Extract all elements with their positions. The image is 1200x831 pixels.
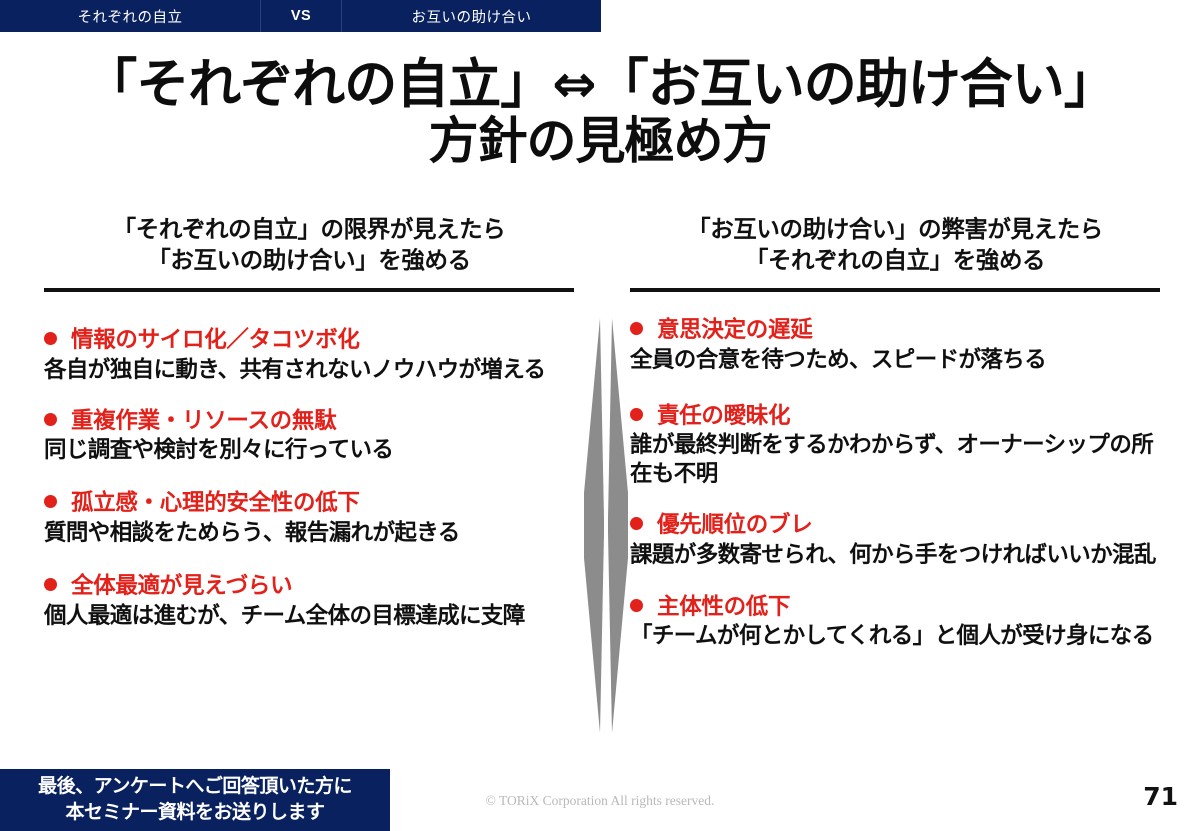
tab-vs-separator: VS bbox=[260, 0, 342, 32]
list-item-title-row: 情報のサイロ化／タコツボ化 bbox=[44, 326, 574, 355]
list-item: 全体最適が見えづらい 個人最適は進むが、チーム全体の目標達成に支障 bbox=[44, 572, 574, 631]
vertical-double-arrow-icon bbox=[578, 318, 634, 733]
tab-independence[interactable]: それぞれの自立 bbox=[0, 0, 260, 32]
list-item: 重複作業・リソースの無駄 同じ調査や検討を別々に行っている bbox=[44, 407, 574, 466]
list-item-title: 意思決定の遅延 bbox=[657, 316, 812, 345]
list-item-title: 孤立感・心理的安全性の低下 bbox=[71, 489, 360, 518]
list-item-title-row: 孤立感・心理的安全性の低下 bbox=[44, 489, 574, 518]
copyright-notice: © TORiX Corporation All rights reserved. bbox=[0, 793, 1200, 809]
list-item: 意思決定の遅延 全員の合意を待つため、スピードが落ちる bbox=[630, 316, 1160, 375]
right-column-divider bbox=[630, 288, 1160, 292]
slide-title-line-2: 方針の見極め方 bbox=[0, 114, 1200, 169]
page-number: 71 bbox=[1143, 782, 1178, 811]
tab-mutual-help-label: お互いの助け合い bbox=[412, 6, 532, 27]
bullet-dot-icon bbox=[44, 413, 57, 426]
left-column-divider bbox=[44, 288, 574, 292]
right-column-items: 意思決定の遅延 全員の合意を待つため、スピードが落ちる 責任の曖昧化 誰が最終判… bbox=[630, 316, 1160, 651]
right-column: 「お互いの助け合い」の弊害が見えたら 「それぞれの自立」を強める 意思決定の遅延… bbox=[630, 214, 1160, 668]
top-tab-bar: それぞれの自立 VS お互いの助け合い bbox=[0, 0, 601, 32]
list-item: 情報のサイロ化／タコツボ化 各自が独自に動き、共有されないノウハウが増える bbox=[44, 326, 574, 385]
list-item-title: 主体性の低下 bbox=[657, 593, 790, 622]
tab-mutual-help[interactable]: お互いの助け合い bbox=[342, 0, 601, 32]
tab-vs-label: VS bbox=[291, 8, 311, 24]
slide-title: 「それぞれの自立」⇔「お互いの助け合い」 方針の見極め方 bbox=[0, 56, 1200, 168]
list-item-body: 各自が独自に動き、共有されないノウハウが増える bbox=[44, 356, 574, 385]
list-item-title: 優先順位のブレ bbox=[657, 511, 812, 540]
right-column-heading: 「お互いの助け合い」の弊害が見えたら 「それぞれの自立」を強める bbox=[630, 214, 1160, 277]
left-column-heading: 「それぞれの自立」の限界が見えたら 「お互いの助け合い」を強める bbox=[44, 214, 574, 277]
bullet-dot-icon bbox=[44, 495, 57, 508]
list-item-title: 重複作業・リソースの無駄 bbox=[71, 407, 336, 436]
list-item-title-row: 意思決定の遅延 bbox=[630, 316, 1160, 345]
list-item-body: 課題が多数寄せられ、何から手をつければいいか混乱 bbox=[630, 541, 1160, 570]
bullet-dot-icon bbox=[44, 578, 57, 591]
bullet-dot-icon bbox=[44, 332, 57, 345]
list-item-title-row: 重複作業・リソースの無駄 bbox=[44, 407, 574, 436]
list-item-title-row: 優先順位のブレ bbox=[630, 511, 1160, 540]
list-item-title-row: 全体最適が見えづらい bbox=[44, 572, 574, 601]
list-item-title: 責任の曖昧化 bbox=[657, 402, 790, 431]
right-column-heading-line-1: 「お互いの助け合い」の弊害が見えたら bbox=[630, 214, 1160, 245]
list-item-title: 情報のサイロ化／タコツボ化 bbox=[71, 326, 360, 355]
left-column: 「それぞれの自立」の限界が見えたら 「お互いの助け合い」を強める 情報のサイロ化… bbox=[44, 214, 574, 647]
left-column-heading-line-2: 「お互いの助け合い」を強める bbox=[44, 245, 574, 276]
list-item-body: 誰が最終判断をするかわからず、オーナーシップの所在も不明 bbox=[630, 431, 1160, 489]
list-item-body: 質問や相談をためらう、報告漏れが起きる bbox=[44, 519, 574, 548]
list-item: 優先順位のブレ 課題が多数寄せられ、何から手をつければいいか混乱 bbox=[630, 511, 1160, 570]
list-item: 主体性の低下 「チームが何とかしてくれる」と個人が受け身になる bbox=[630, 593, 1160, 652]
list-item: 孤立感・心理的安全性の低下 質問や相談をためらう、報告漏れが起きる bbox=[44, 489, 574, 548]
list-item-body: 同じ調査や検討を別々に行っている bbox=[44, 436, 574, 465]
list-item-title-row: 主体性の低下 bbox=[630, 593, 1160, 622]
list-item-title-row: 責任の曖昧化 bbox=[630, 402, 1160, 431]
list-item-body: 個人最適は進むが、チーム全体の目標達成に支障 bbox=[44, 602, 574, 631]
list-item-body: 全員の合意を待つため、スピードが落ちる bbox=[630, 346, 1160, 375]
list-item-title: 全体最適が見えづらい bbox=[71, 572, 292, 601]
slide-title-line-1: 「それぞれの自立」⇔「お互いの助け合い」 bbox=[0, 56, 1200, 114]
list-item-body: 「チームが何とかしてくれる」と個人が受け身になる bbox=[630, 622, 1160, 651]
right-column-heading-line-2: 「それぞれの自立」を強める bbox=[630, 245, 1160, 276]
left-column-heading-line-1: 「それぞれの自立」の限界が見えたら bbox=[44, 214, 574, 245]
list-item: 責任の曖昧化 誰が最終判断をするかわからず、オーナーシップの所在も不明 bbox=[630, 402, 1160, 489]
tab-independence-label: それぞれの自立 bbox=[78, 6, 183, 27]
left-column-items: 情報のサイロ化／タコツボ化 各自が独自に動き、共有されないノウハウが増える 重複… bbox=[44, 326, 574, 630]
